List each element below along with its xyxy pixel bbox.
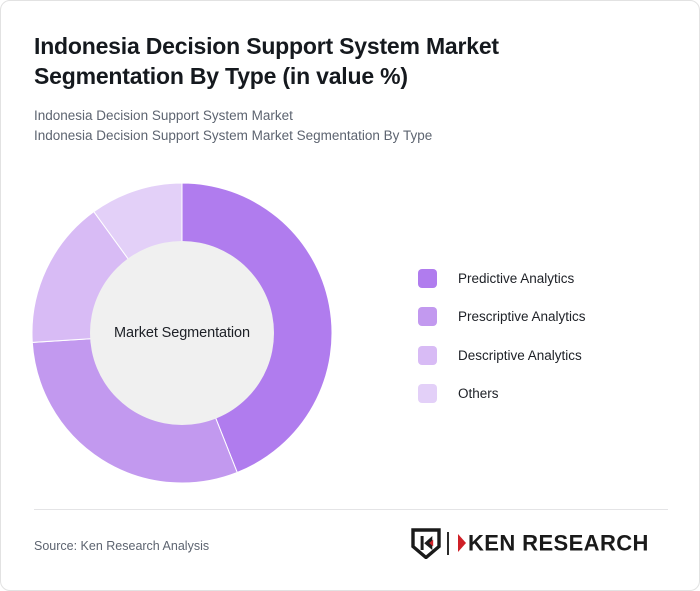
legend-label: Others — [458, 386, 499, 401]
ken-research-logo: KEN RESEARCH — [411, 525, 668, 561]
chart-legend: Predictive AnalyticsPrescriptive Analyti… — [418, 259, 586, 413]
subtitle-line-2: Indonesia Decision Support System Market… — [34, 126, 654, 146]
page-title: Indonesia Decision Support System Market… — [34, 31, 654, 92]
legend-item[interactable]: Prescriptive Analytics — [418, 298, 586, 337]
subtitle-block: Indonesia Decision Support System Market… — [34, 106, 654, 147]
shield-logo-icon — [411, 528, 441, 559]
legend-item[interactable]: Descriptive Analytics — [418, 336, 586, 375]
chart-card: Indonesia Decision Support System Market… — [0, 0, 700, 591]
donut-hole — [90, 241, 274, 425]
chart-header: Indonesia Decision Support System Market… — [34, 31, 654, 146]
logo-wordmark-text: KEN RESEARCH — [468, 531, 649, 556]
donut-svg — [32, 183, 332, 483]
footer-divider — [34, 509, 668, 510]
legend-label: Predictive Analytics — [458, 271, 574, 286]
legend-swatch — [418, 269, 437, 288]
logo-separator — [447, 532, 449, 555]
subtitle-line-1: Indonesia Decision Support System Market — [34, 106, 654, 126]
legend-item[interactable]: Predictive Analytics — [418, 259, 586, 298]
ken-research-wordmark: KEN RESEARCH — [456, 530, 668, 556]
chart-area: Market Segmentation Predictive Analytics… — [1, 171, 700, 501]
legend-swatch — [418, 346, 437, 365]
legend-swatch — [418, 307, 437, 326]
legend-item[interactable]: Others — [418, 375, 586, 414]
source-note: Source: Ken Research Analysis — [34, 539, 209, 553]
legend-label: Descriptive Analytics — [458, 348, 582, 363]
donut-chart: Market Segmentation — [32, 183, 332, 483]
legend-swatch — [418, 384, 437, 403]
legend-label: Prescriptive Analytics — [458, 309, 586, 324]
